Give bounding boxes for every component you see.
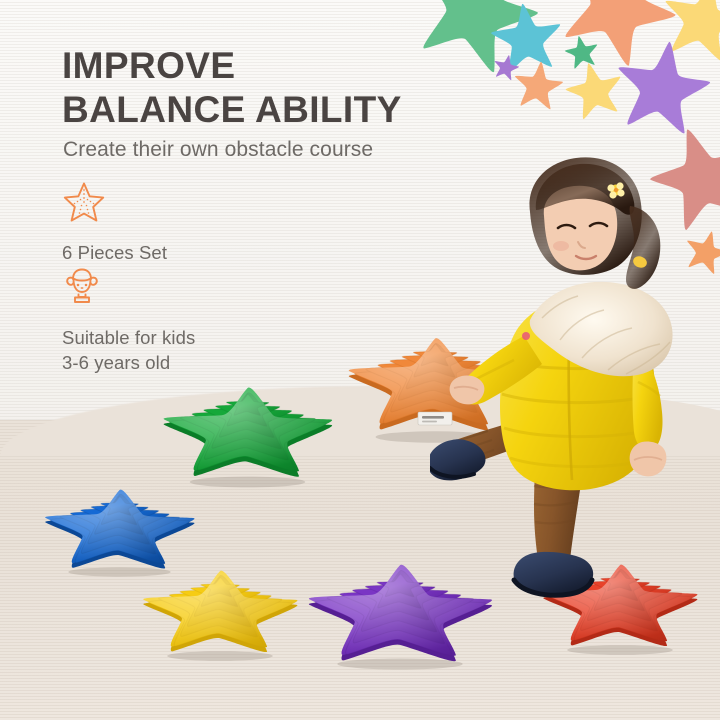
headline-line-2: BALANCE ABILITY <box>62 88 402 132</box>
feature-item-age: Suitable for kids 3-6 years old <box>62 266 195 375</box>
child-photo <box>430 150 720 620</box>
feature-label-age: Suitable for kids 3-6 years old <box>62 326 195 375</box>
headline-line-1: IMPROVE <box>62 45 235 86</box>
feature-label-pieces: 6 Pieces Set <box>62 241 167 266</box>
girl-face-icon <box>62 266 195 311</box>
child-head <box>529 157 660 288</box>
product-banner: IMPROVE BALANCE ABILITY Create their own… <box>0 0 720 720</box>
feature-item-pieces: 6 Pieces Set <box>62 180 167 266</box>
starfish-icon <box>62 180 167 229</box>
stone-yellow <box>140 558 300 672</box>
subtitle: Create their own obstacle course <box>63 138 373 162</box>
page-title: IMPROVE BALANCE ABILITY <box>62 44 402 132</box>
